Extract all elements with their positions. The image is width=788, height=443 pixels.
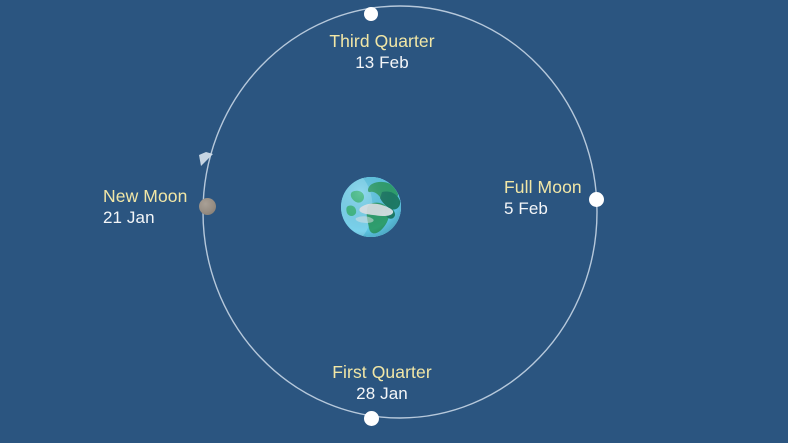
phase-label-first-quarter: First Quarter 28 Jan: [278, 361, 486, 405]
earth-globe-icon: [336, 172, 406, 242]
moon-marker-third-quarter[interactable]: [364, 7, 378, 21]
phase-date-full-moon: 5 Feb: [504, 198, 614, 220]
earth-globe: [336, 172, 406, 242]
phase-label-full-moon: Full Moon 5 Feb: [504, 176, 614, 220]
phase-date-third-quarter: 13 Feb: [278, 52, 486, 74]
phase-name-new-moon: New Moon: [103, 185, 203, 207]
phase-name-third-quarter: Third Quarter: [278, 30, 486, 52]
moon-phase-diagram: Third Quarter 13 Feb Full Moon 5 Feb Fir…: [0, 0, 788, 443]
orbit-direction-arrow-icon: [199, 152, 213, 166]
phase-name-first-quarter: First Quarter: [278, 361, 486, 383]
phase-date-first-quarter: 28 Jan: [278, 383, 486, 405]
phase-date-new-moon: 21 Jan: [103, 207, 203, 229]
moon-marker-first-quarter[interactable]: [364, 411, 379, 426]
phase-name-full-moon: Full Moon: [504, 176, 614, 198]
phase-label-third-quarter: Third Quarter 13 Feb: [278, 30, 486, 74]
phase-label-new-moon: New Moon 21 Jan: [103, 185, 203, 229]
